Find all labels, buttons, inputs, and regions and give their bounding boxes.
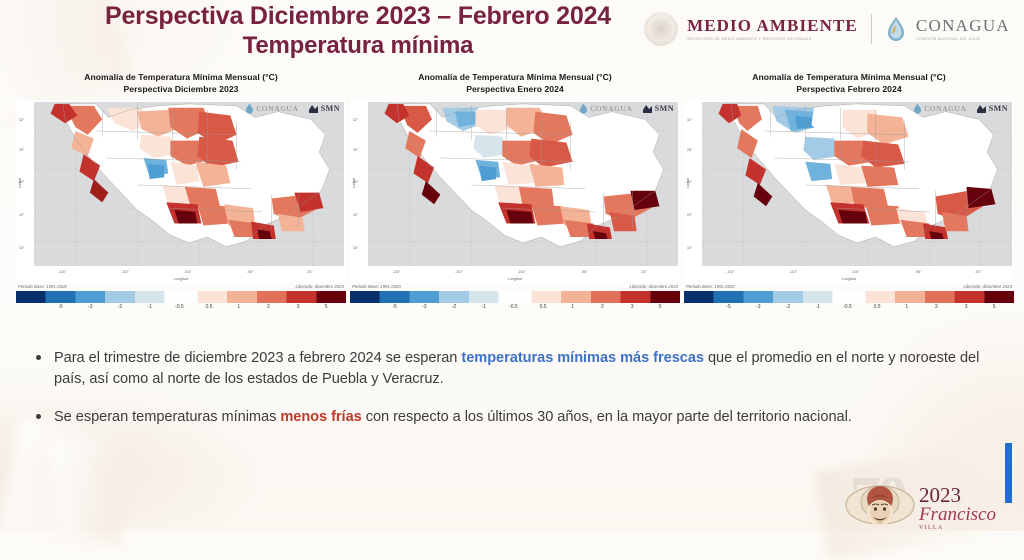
panel-title-line-2: Perspectiva Diciembre 2023 [16,84,346,96]
water-drop-icon [885,16,907,42]
x-tick: -116° [726,270,734,274]
map-panel-group: Anomalía de Temperatura Mínima Mensual (… [0,72,1024,330]
y-tick: 20° [19,213,24,217]
list-item: Para el trimestre de diciembre 2023 a fe… [36,348,1008,390]
bullet-text-post: con respecto a los últimos 30 años, en l… [362,409,852,425]
x-tick: -98° [247,270,253,274]
francisco-villa-text: 2023 Francisco VILLA [919,486,996,537]
colorbar-tick: -0.5 [509,304,518,310]
axis-x-title: Longitud [508,277,522,281]
colorbar-tick: 3 [965,304,968,310]
colorbar-meta: Periodo Base: 1991-2020 Liberado: diciem… [684,284,1014,289]
y-tick: 24° [19,180,24,184]
x-tick: -104° [518,270,526,274]
national-seal-icon [644,12,678,46]
colorbar-tick: 0.5 [540,304,547,310]
title-line-1: Perspectiva Diciembre 2023 – Febrero 202… [48,2,668,32]
water-drop-icon [913,103,922,114]
y-tick: 20° [353,213,358,217]
colorbar-meta: Periodo Base: 1991-2020 Liberado: diciem… [350,284,680,289]
y-tick: 24° [353,180,358,184]
colorbar-tick: 5 [325,304,328,310]
map-logo-group: CONAGUA SMN [245,103,340,114]
francisco-villa-portrait-icon [843,475,917,537]
axis-x-title: Longitud [174,277,188,281]
bullet-dot-icon [36,414,41,419]
bullet-highlight: menos frías [280,409,361,425]
base-period-label: Periodo Base: 1991-2020 [352,284,401,289]
panel-title-line-2: Perspectiva Febrero 2024 [684,84,1014,96]
smn-emblem-icon [642,104,653,114]
colorbar-tick: -5 [392,304,396,310]
map-smn-logo: SMN [642,104,674,114]
colorbar-tick: 3 [297,304,300,310]
y-tick: 16° [687,246,692,250]
colorbar-tick: 2 [601,304,604,310]
colorbar [684,291,1014,303]
commemorative-subtitle: VILLA [919,525,944,531]
medio-ambiente-logo: MEDIO AMBIENTE SECRETARÍA DE MEDIO AMBIE… [687,17,858,41]
y-tick: 16° [19,246,24,250]
y-tick: 28° [19,148,24,152]
bullet-text-pre: Para el trimestre de diciembre 2023 a fe… [54,350,461,366]
released-label: Liberado: diciembre 2023 [630,284,679,289]
colorbar-tick: -2 [786,304,790,310]
x-tick: -98° [581,270,587,274]
colorbar-tick: -3 [756,304,760,310]
map-conagua-label: CONAGUA [256,104,298,113]
commemorative-name: Francisco [919,505,996,524]
colorbar-tick: 3 [631,304,634,310]
anomaly-map-diciembre[interactable] [34,102,344,266]
x-tick: -98° [915,270,921,274]
colorbar-tick: -2 [118,304,122,310]
map-smn-logo: SMN [976,104,1008,114]
colorbar-ticks: -5 -3 -2 -1 -0.5 0.5 1 2 3 5 [684,303,1014,314]
colorbar-tick: -0.5 [175,304,184,310]
colorbar-tick: 1 [905,304,908,310]
panel-title-line-1: Anomalía de Temperatura Mínima Mensual (… [684,72,1014,84]
y-tick: 28° [353,148,358,152]
x-tick: -104° [852,270,860,274]
list-item: Se esperan temperaturas mínimas menos fr… [36,407,1008,428]
map-panel-diciembre: Anomalía de Temperatura Mínima Mensual (… [16,72,346,330]
x-tick: -92° [975,270,981,274]
map-conagua-label: CONAGUA [924,104,966,113]
slide-header: Perspectiva Diciembre 2023 – Febrero 202… [0,0,1024,66]
bullet-text: Se esperan temperaturas mínimas menos fr… [54,407,852,428]
title-line-2: Temperatura mínima [48,32,668,60]
colorbar-tick: 1 [571,304,574,310]
x-tick: -110° [789,270,797,274]
bullet-text-pre: Se esperan temperaturas mínimas [54,409,280,425]
x-tick: -110° [455,270,463,274]
y-tick: 28° [687,148,692,152]
released-label: Liberado: diciembre 2023 [296,284,345,289]
map-conagua-logo: CONAGUA [913,103,966,114]
accent-bar [1005,443,1012,503]
bullet-dot-icon [36,355,41,360]
y-tick: 20° [687,213,692,217]
smn-emblem-icon [308,104,319,114]
y-tick: 32° [353,118,358,122]
map-frame: Latitud 32° 28° 24° 20° 16° [350,100,680,282]
brand-logo-bar: MEDIO AMBIENTE SECRETARÍA DE MEDIO AMBIE… [644,12,1010,46]
colorbar-tick: -1 [815,304,819,310]
map-conagua-label: CONAGUA [590,104,632,113]
y-tick: 32° [19,118,24,122]
panel-title-line-2: Perspectiva Enero 2024 [350,84,680,96]
map-frame: Latitud 32° 28° 24° 20° 16° [684,100,1014,282]
map-smn-logo: SMN [308,104,340,114]
colorbar-tick: -3 [422,304,426,310]
y-tick: 16° [353,246,358,250]
panel-title: Anomalía de Temperatura Mínima Mensual (… [350,72,680,95]
y-tick: 24° [687,180,692,184]
conagua-logo: CONAGUA COMISIÓN NACIONAL DEL AGUA [916,17,1010,41]
colorbar-tick: -1 [481,304,485,310]
colorbar-tick: 1 [237,304,240,310]
released-label: Liberado: diciembre 2023 [964,284,1013,289]
colorbar [350,291,680,303]
map-frame: Latitud 32° 28° 24° 20° 16° [16,100,346,282]
base-period-label: Periodo Base: 1991-2020 [18,284,67,289]
colorbar-tick: 0.5 [874,304,881,310]
conagua-sublabel: COMISIÓN NACIONAL DEL AGUA [916,37,1010,41]
colorbar-tick: -3 [88,304,92,310]
map-logo-group: CONAGUA SMN [913,103,1008,114]
colorbar-tick: -1 [147,304,151,310]
conagua-label: CONAGUA [916,17,1010,34]
x-tick: -92° [307,270,313,274]
map-conagua-logo: CONAGUA [579,103,632,114]
medio-ambiente-sublabel: SECRETARÍA DE MEDIO AMBIENTE Y RECURSOS … [687,37,858,41]
anomaly-map-febrero[interactable] [702,102,1012,266]
y-tick: 32° [687,118,692,122]
base-period-label: Periodo Base: 1991-2020 [686,284,735,289]
map-smn-label: SMN [989,104,1008,113]
map-conagua-logo: CONAGUA [245,103,298,114]
colorbar-ticks: -5 -3 -2 -1 -0.5 0.5 1 2 3 5 [16,303,346,314]
bullet-highlight: temperaturas mínimas más frescas [461,350,704,366]
map-logo-group: CONAGUA SMN [579,103,674,114]
panel-title-line-1: Anomalía de Temperatura Mínima Mensual (… [350,72,680,84]
colorbar [16,291,346,303]
colorbar-tick: 2 [267,304,270,310]
anomaly-map-enero[interactable] [368,102,678,266]
page-title: Perspectiva Diciembre 2023 – Febrero 202… [48,2,668,60]
map-smn-label: SMN [655,104,674,113]
colorbar-ticks: -5 -3 -2 -1 -0.5 0.5 1 2 3 5 [350,303,680,314]
panel-title-line-1: Anomalía de Temperatura Mínima Mensual (… [16,72,346,84]
colorbar-tick: 0.5 [206,304,213,310]
background-streak [50,437,115,542]
smn-emblem-icon [976,104,987,114]
panel-title: Anomalía de Temperatura Mínima Mensual (… [16,72,346,95]
colorbar-tick: 5 [659,304,662,310]
bullet-text: Para el trimestre de diciembre 2023 a fe… [54,348,1008,390]
map-panel-febrero: Anomalía de Temperatura Mínima Mensual (… [684,72,1014,330]
map-smn-label: SMN [321,104,340,113]
axis-x-title: Longitud [842,277,856,281]
x-tick: -110° [121,270,129,274]
francisco-villa-commemorative-logo: 2023 Francisco VILLA [843,475,996,537]
colorbar-tick: -5 [58,304,62,310]
colorbar-meta: Periodo Base: 1991-2020 Liberado: diciem… [16,284,346,289]
colorbar-tick: 2 [935,304,938,310]
x-tick: -116° [392,270,400,274]
x-tick: -92° [641,270,647,274]
water-drop-icon [245,103,254,114]
medio-ambiente-label: MEDIO AMBIENTE [687,17,858,34]
map-panel-enero: Anomalía de Temperatura Mínima Mensual (… [350,72,680,330]
colorbar-tick: 5 [993,304,996,310]
panel-title: Anomalía de Temperatura Mínima Mensual (… [684,72,1014,95]
x-tick: -104° [184,270,192,274]
commemorative-year: 2023 [919,486,961,506]
colorbar-tick: -2 [452,304,456,310]
water-drop-icon [579,103,588,114]
colorbar-tick: -5 [726,304,730,310]
colorbar-tick: -0.5 [843,304,852,310]
logo-divider [871,14,872,44]
bullet-list: Para el trimestre de diciembre 2023 a fe… [36,348,1008,445]
x-tick: -116° [58,270,66,274]
